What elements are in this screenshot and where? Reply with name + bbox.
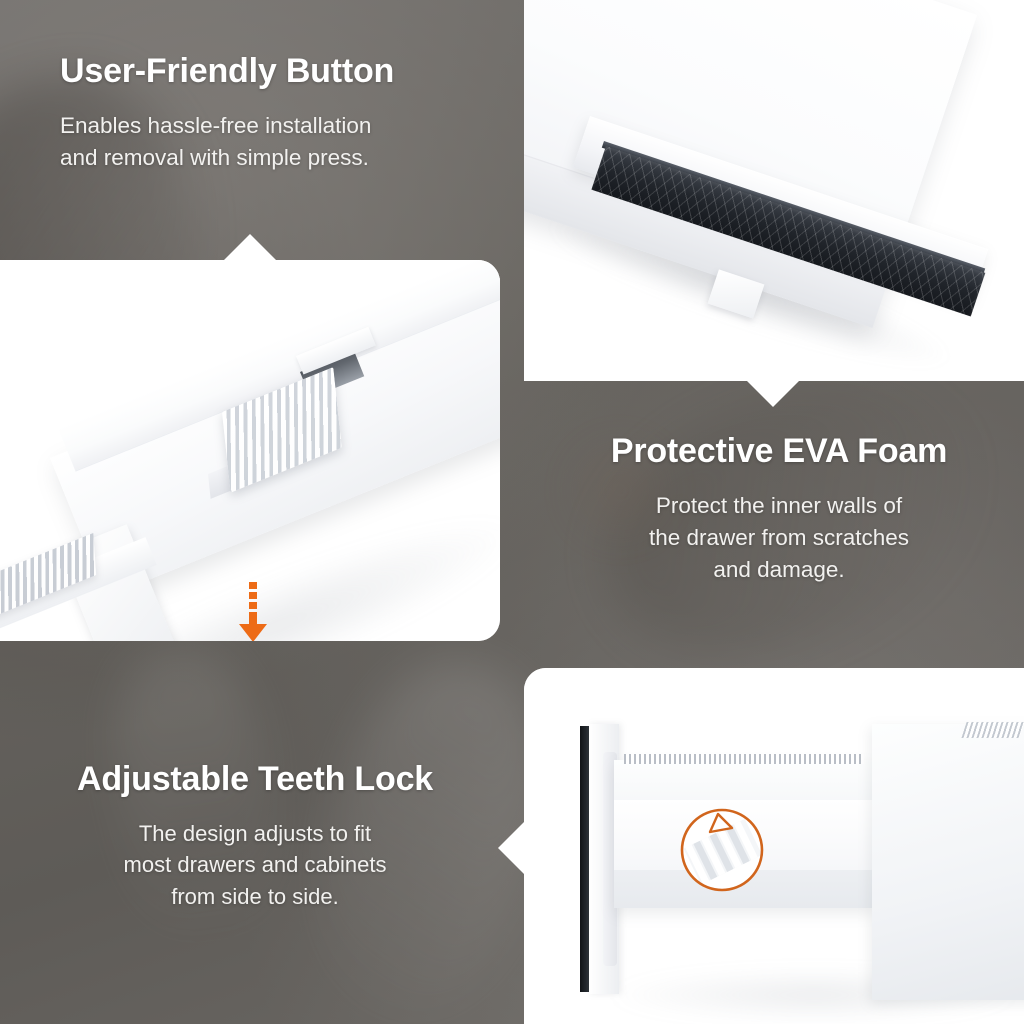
- drawer-divider-teeth-lock-photo: [524, 668, 1024, 1024]
- drawer-divider-press-button-photo: [0, 260, 500, 641]
- teeth-lock-photo-panel: [524, 668, 1024, 1024]
- feature-title: User-Friendly Button: [60, 52, 480, 91]
- feature-description-line: Enables hassle-free installation: [60, 110, 480, 142]
- pointer-triangle-down: [747, 381, 799, 407]
- feature-description-line: from side to side.: [40, 881, 470, 912]
- feature-title: Adjustable Teeth Lock: [40, 760, 470, 799]
- feature-description-line: Protect the inner walls of: [556, 490, 1002, 522]
- pointer-triangle-left: [498, 822, 524, 874]
- feature-text-adjustable-teeth-lock: Adjustable Teeth Lock The design adjusts…: [40, 760, 470, 912]
- teeth-rack-tab: [961, 722, 1024, 738]
- feature-description-line: most drawers and cabinets: [40, 849, 470, 880]
- feature-text-protective-eva-foam: Protective EVA Foam Protect the inner wa…: [556, 432, 1002, 586]
- feature-description-line: the drawer from scratches: [556, 522, 1002, 554]
- feature-description-line: and removal with simple press.: [60, 142, 480, 174]
- pointer-triangle-up: [224, 234, 276, 260]
- press-button-photo-panel: [0, 260, 500, 641]
- product-feature-infographic: User-Friendly Button Enables hassle-free…: [0, 0, 1024, 1024]
- feature-description-line: and damage.: [556, 554, 1002, 586]
- feature-title: Protective EVA Foam: [556, 432, 1002, 471]
- down-arrow-icon: [237, 582, 269, 641]
- eva-foam-edge: [580, 726, 589, 992]
- divider-right-slab: [872, 724, 1024, 1000]
- feature-text-user-friendly-button: User-Friendly Button Enables hassle-free…: [60, 52, 480, 174]
- teeth-rack: [624, 754, 864, 764]
- eva-foam-photo-panel: [524, 0, 1024, 381]
- drawer-divider-eva-foam-photo: [524, 0, 1024, 381]
- feature-description-line: The design adjusts to fit: [40, 818, 470, 849]
- magnifier-callout-icon: [674, 798, 770, 894]
